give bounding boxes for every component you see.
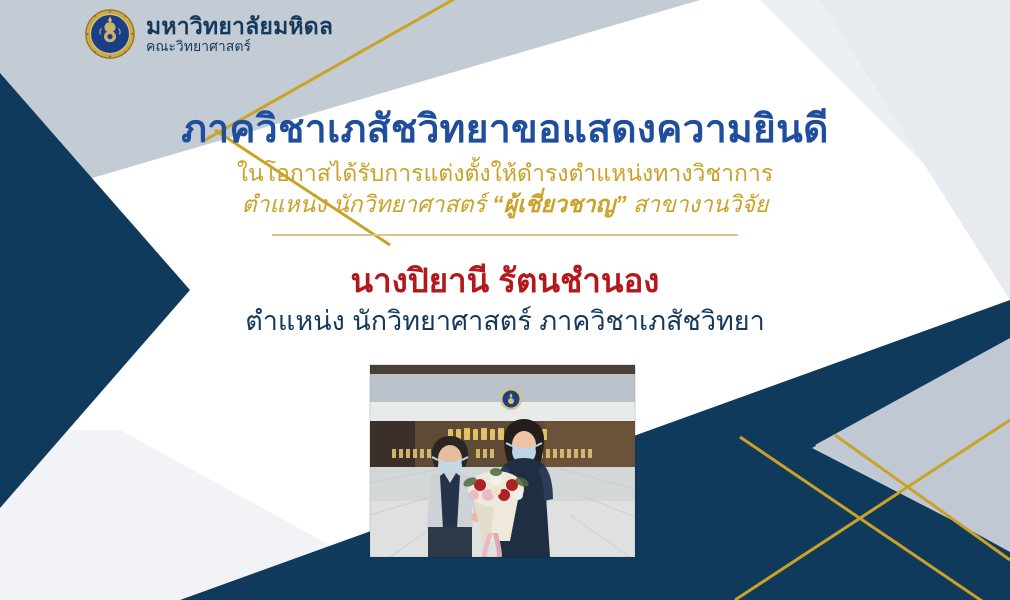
- honoree-name: นางปิยานี รัตนชำนอง: [0, 262, 1010, 300]
- photo-content: [370, 365, 635, 557]
- subtitle-prefix: ตำแหน่ง นักวิทยาศาสตร์: [242, 191, 493, 217]
- congratulation-photo: [370, 365, 635, 557]
- subtitle-suffix: สาขางานวิจัย: [627, 191, 769, 217]
- faculty-name: คณะวิทยาศาสตร์: [146, 39, 333, 53]
- gold-divider: [272, 234, 738, 236]
- subtitle-line-2: ตำแหน่ง นักวิทยาศาสตร์ “ผู้เชี่ยวชาญ” สา…: [0, 191, 1010, 219]
- headline: ภาควิชาเภสัชวิทยาขอแสดงความยินดี: [0, 108, 1010, 152]
- mahidol-university-seal-icon: [84, 8, 136, 60]
- honoree-position: ตำแหน่ง นักวิทยาศาสตร์ ภาควิชาเภสัชวิทยา: [0, 306, 1010, 337]
- subtitle-quoted-term: “ผู้เชี่ยวชาญ”: [492, 191, 626, 217]
- university-logo: มหาวิทยาลัยมหิดล คณะวิทยาศาสตร์: [84, 6, 333, 62]
- congratulation-banner: มหาวิทยาลัยมหิดล คณะวิทยาศาสตร์ ภาควิชาเ…: [0, 0, 1010, 600]
- subtitle-line-1: ในโอกาสได้รับการแต่งตั้งให้ดำรงตำแหน่งทา…: [0, 160, 1010, 188]
- university-name: มหาวิทยาลัยมหิดล: [146, 15, 333, 38]
